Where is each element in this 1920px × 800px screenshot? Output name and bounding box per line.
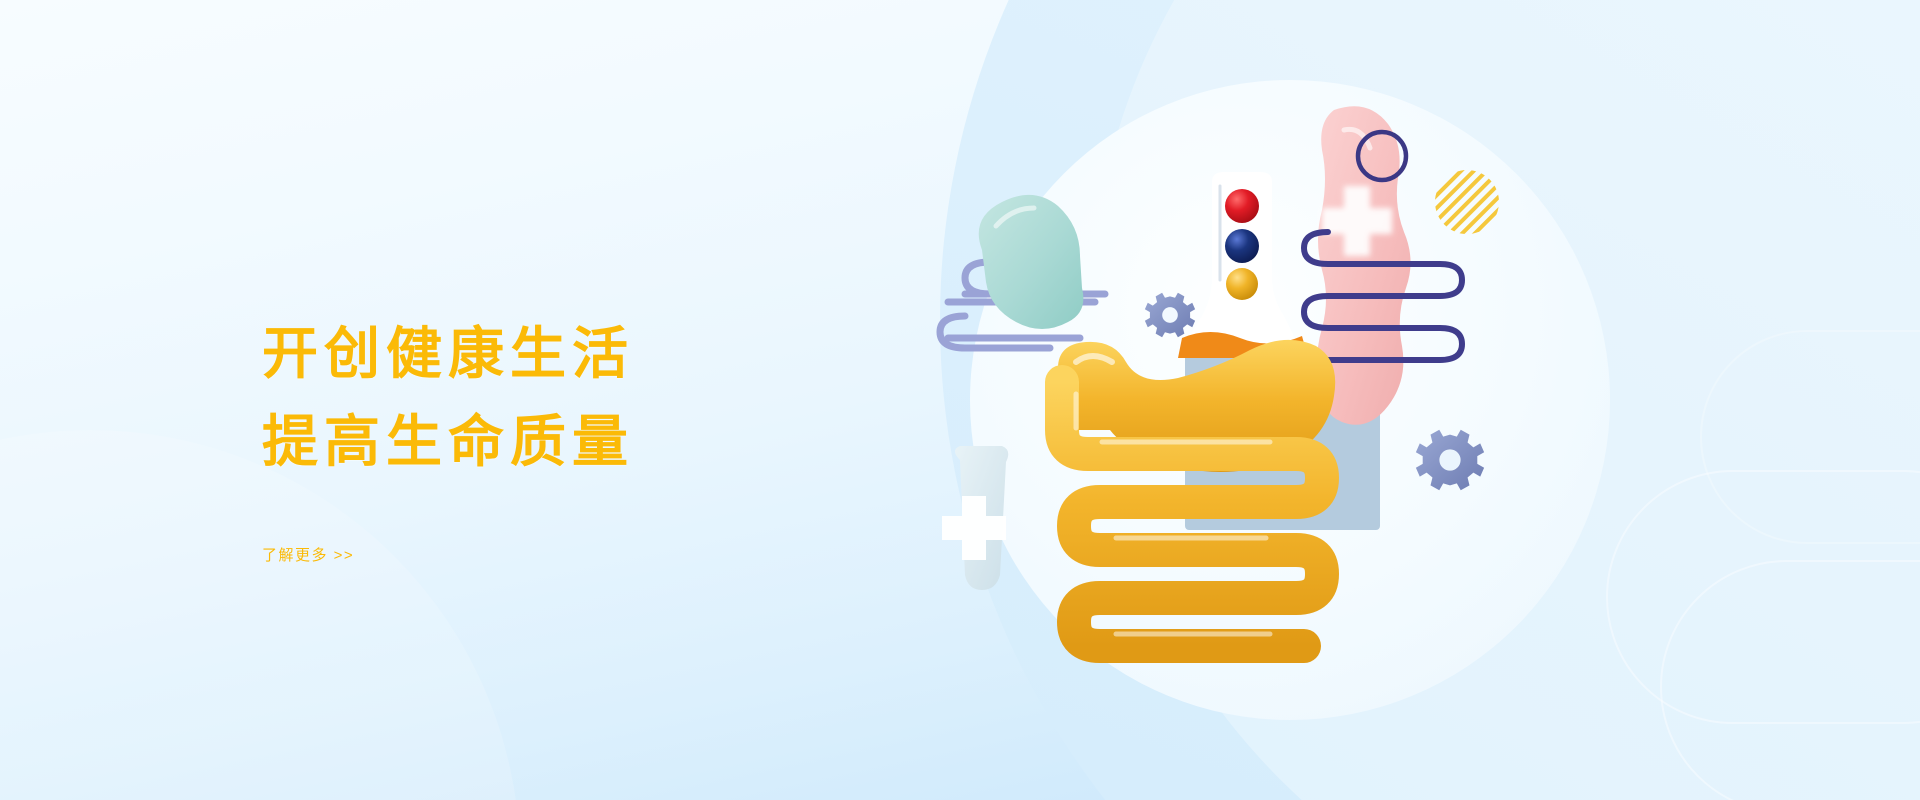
background-rounded-rect-2 [1660,560,1920,800]
gear-large-icon [1416,430,1484,490]
tube-sphere-yellow [1226,268,1258,300]
background-rounded-rect-3 [1700,330,1920,544]
tube-sphere-navy [1225,229,1259,263]
tube-sphere-red [1225,189,1259,223]
hero-banner: 开创健康生活 提高生命质量 了解更多 >> [0,0,1920,800]
learn-more-link[interactable]: 了解更多 >> [262,544,354,565]
gear-small-icon [1145,293,1195,337]
headline-line-2: 提高生命质量 [262,398,882,486]
headline-line-1: 开创健康生活 [262,310,882,398]
teal-organ [979,195,1084,329]
illustration-svg [930,50,1630,750]
digestive-health-illustration [930,50,1630,750]
hero-copy: 开创健康生活 提高生命质量 了解更多 >> [262,310,882,565]
hatched-circle [1430,165,1510,245]
